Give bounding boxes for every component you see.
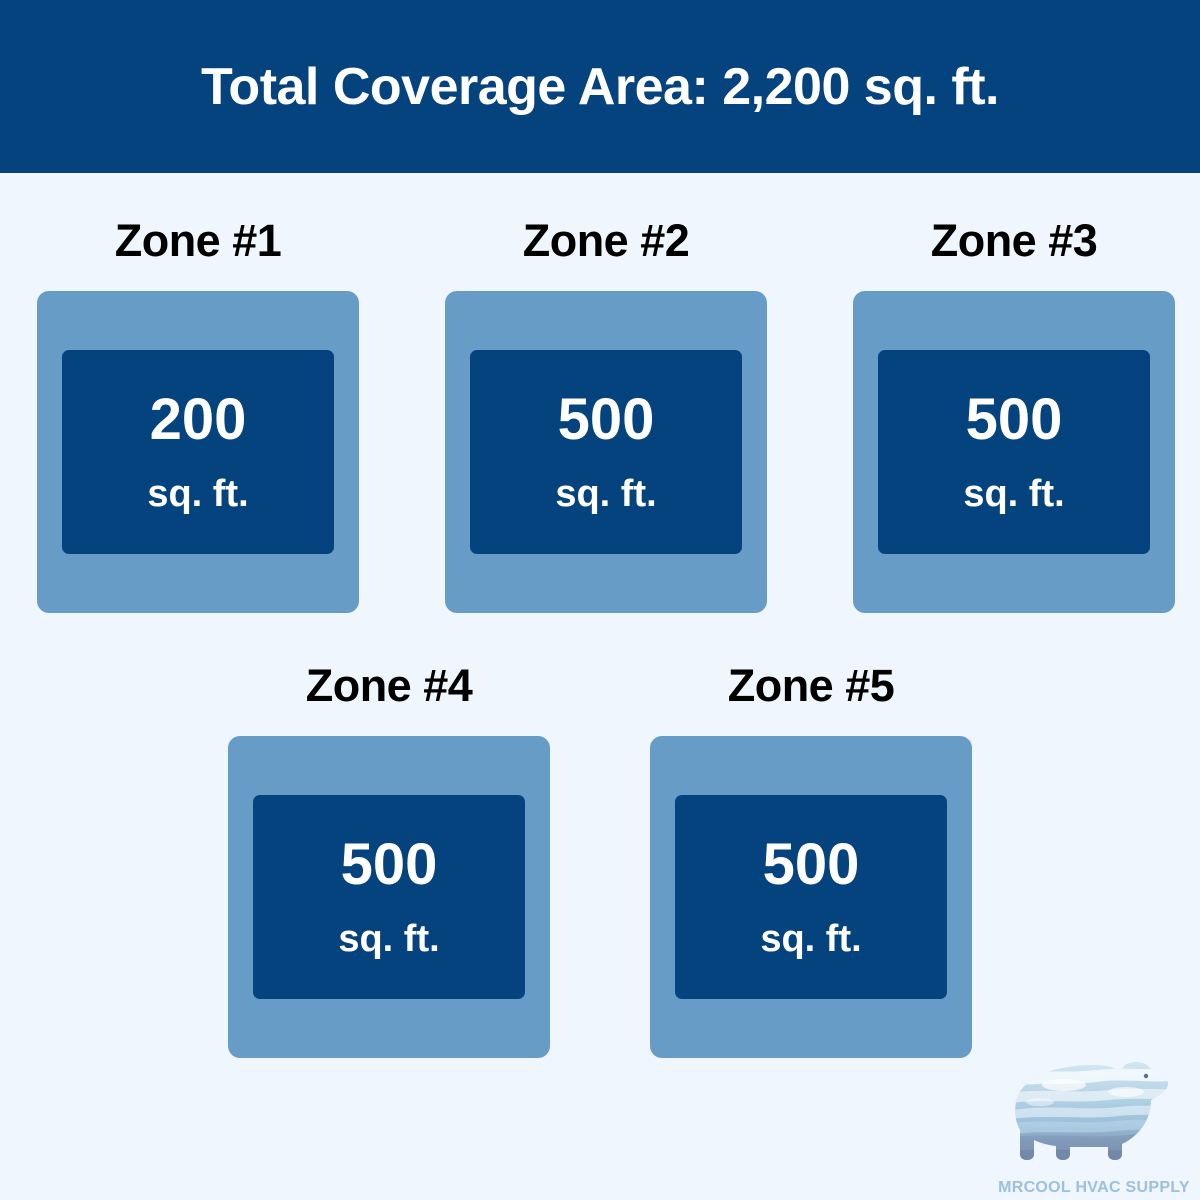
zone-outer-box-2: 500 sq. ft.: [445, 291, 767, 613]
zone-label-2: Zone #2: [523, 218, 690, 263]
zone-unit-2: sq. ft.: [555, 475, 656, 513]
zone-value-4: 500: [341, 836, 438, 894]
zone-inner-box-5: 500 sq. ft.: [675, 795, 947, 999]
zone-unit-5: sq. ft.: [760, 920, 861, 958]
zone-card-5: Zone #5 500 sq. ft.: [650, 663, 972, 1058]
zone-row-top: Zone #1 200 sq. ft. Zone #2 500 sq. ft. …: [0, 218, 1200, 613]
header-banner: Total Coverage Area: 2,200 sq. ft.: [0, 0, 1200, 173]
brand-logo: MRCOOL HVAC SUPPLY: [996, 1024, 1192, 1196]
zone-value-5: 500: [763, 836, 860, 894]
zone-outer-box-4: 500 sq. ft.: [228, 736, 550, 1058]
zone-inner-box-2: 500 sq. ft.: [470, 350, 742, 554]
brand-name: MRCOOL HVAC SUPPLY: [998, 1180, 1190, 1196]
zone-row-bottom: Zone #4 500 sq. ft. Zone #5 500 sq. ft.: [0, 663, 1200, 1058]
zone-inner-box-4: 500 sq. ft.: [253, 795, 525, 999]
zone-inner-box-3: 500 sq. ft.: [878, 350, 1150, 554]
zone-card-3: Zone #3 500 sq. ft.: [853, 218, 1175, 613]
zone-card-2: Zone #2 500 sq. ft.: [445, 218, 767, 613]
zone-label-3: Zone #3: [931, 218, 1098, 263]
zone-value-3: 500: [966, 391, 1063, 449]
zone-unit-3: sq. ft.: [963, 475, 1064, 513]
zone-outer-box-3: 500 sq. ft.: [853, 291, 1175, 613]
zone-card-1: Zone #1 200 sq. ft.: [37, 218, 359, 613]
zone-outer-box-1: 200 sq. ft.: [37, 291, 359, 613]
zone-label-5: Zone #5: [728, 663, 895, 708]
zone-outer-box-5: 500 sq. ft.: [650, 736, 972, 1058]
zone-inner-box-1: 200 sq. ft.: [62, 350, 334, 554]
zone-unit-1: sq. ft.: [147, 475, 248, 513]
zone-label-1: Zone #1: [115, 218, 282, 263]
zone-value-2: 500: [558, 391, 655, 449]
page-title: Total Coverage Area: 2,200 sq. ft.: [201, 61, 999, 113]
zone-card-4: Zone #4 500 sq. ft.: [228, 663, 550, 1058]
polar-bear-icon: [1004, 1040, 1184, 1178]
zone-unit-4: sq. ft.: [338, 920, 439, 958]
zone-value-1: 200: [150, 391, 247, 449]
zone-label-4: Zone #4: [306, 663, 473, 708]
